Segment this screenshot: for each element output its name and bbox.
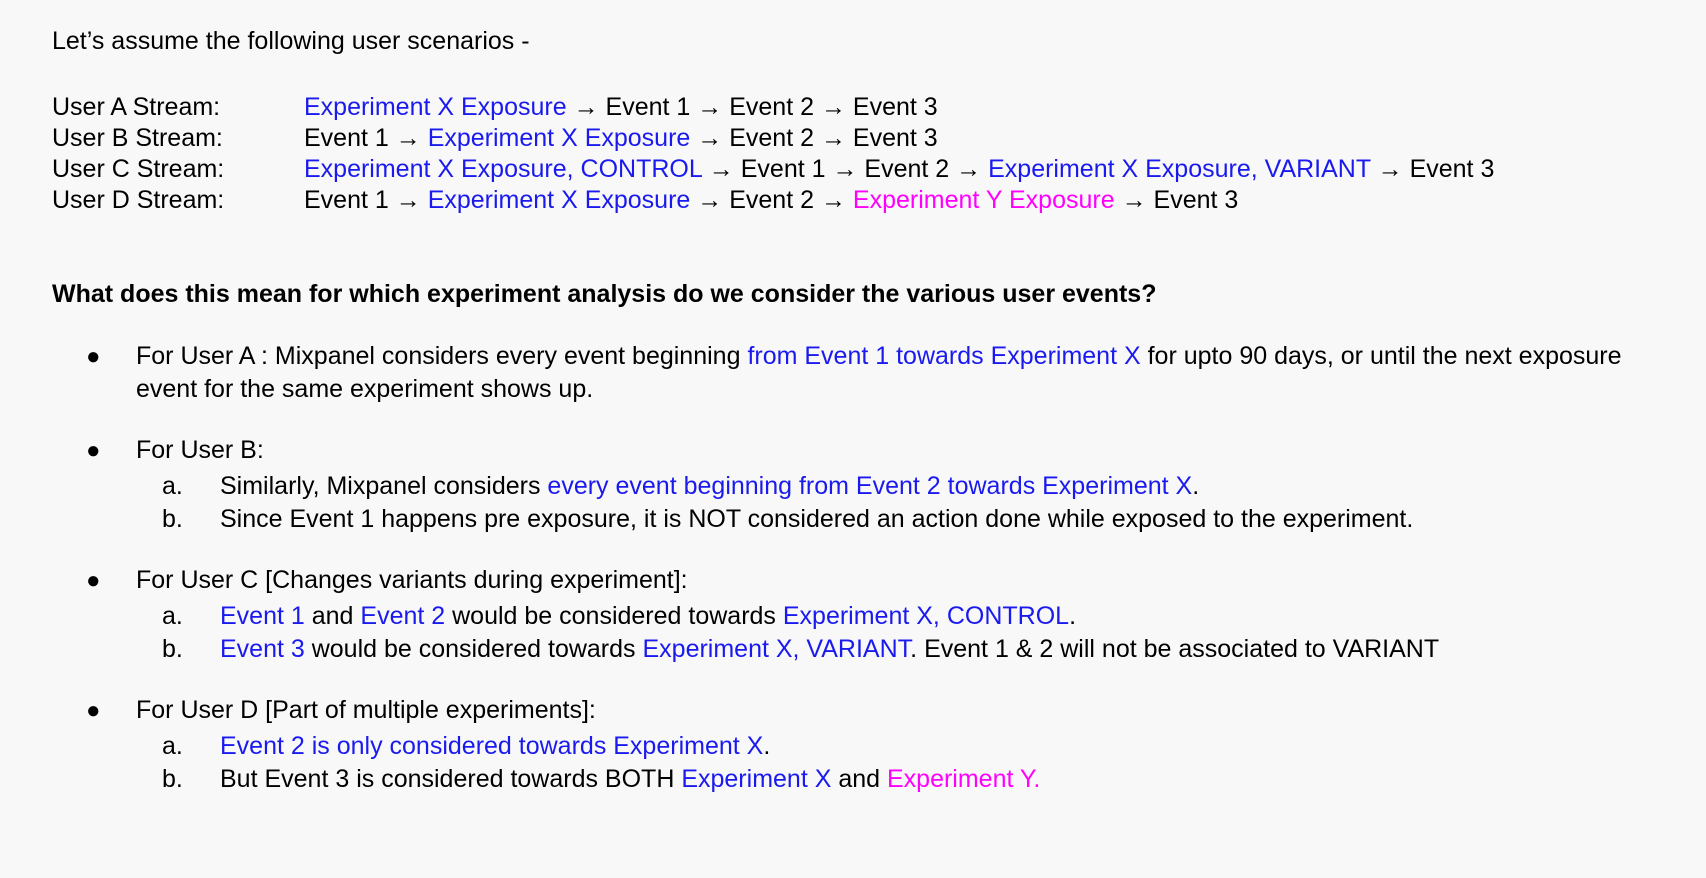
text-segment: → <box>690 124 729 152</box>
bullet-dot-icon: ● <box>86 340 100 373</box>
bullet-text: For User B: <box>136 434 1670 467</box>
scenario-stream: Event 1 → Experiment X Exposure → Event … <box>304 185 1494 216</box>
sub-list-item: a.Event 2 is only considered towards Exp… <box>136 730 1670 763</box>
user-scenarios-table: User A Stream:Experiment X Exposure → Ev… <box>52 92 1494 216</box>
sub-list-text: Event 1 and Event 2 would be considered … <box>220 602 1076 630</box>
text-segment: Event 1 <box>304 186 389 214</box>
text-segment: Event 3 <box>853 124 938 152</box>
sub-list: a.Event 1 and Event 2 would be considere… <box>136 600 1670 666</box>
text-segment: → <box>567 93 606 121</box>
scenario-row: User A Stream:Experiment X Exposure → Ev… <box>52 92 1494 123</box>
text-segment: . <box>1069 602 1076 630</box>
text-segment: Event 1 <box>606 93 691 121</box>
sub-list-item: b.But Event 3 is considered towards BOTH… <box>136 763 1670 796</box>
sub-list-item: b.Event 3 would be considered towards Ex… <box>136 633 1670 666</box>
text-segment: would be considered towards <box>445 602 783 630</box>
user-scenarios-body: User A Stream:Experiment X Exposure → Ev… <box>52 92 1494 216</box>
text-segment: Event 1 <box>304 124 389 152</box>
text-segment: For User B: <box>136 436 264 464</box>
text-segment: Experiment X Exposure <box>304 93 567 121</box>
analysis-bullet-list: ●For User A : Mixpanel considers every e… <box>52 340 1670 796</box>
text-segment: Event 3 <box>853 93 938 121</box>
text-segment: → <box>949 155 988 183</box>
sub-list-text: Event 3 would be considered towards Expe… <box>220 635 1439 663</box>
text-segment: Event 2 is only considered towards Exper… <box>220 732 763 760</box>
bullet-list-item: ●For User B:a.Similarly, Mixpanel consid… <box>52 434 1670 536</box>
text-segment: Event 1 <box>220 602 305 630</box>
bullet-list-item: ●For User C [Changes variants during exp… <box>52 564 1670 666</box>
text-segment: For User A : Mixpanel considers every ev… <box>136 342 747 370</box>
sub-list-marker: b. <box>162 633 202 666</box>
text-segment: . Event 1 & 2 will not be associated to … <box>910 635 1439 663</box>
scenario-label: User D Stream: <box>52 185 304 216</box>
sub-list-item: b.Since Event 1 happens pre exposure, it… <box>136 503 1670 536</box>
bullet-text: For User A : Mixpanel considers every ev… <box>136 340 1670 406</box>
text-segment: → <box>814 186 853 214</box>
scenario-stream: Experiment X Exposure, CONTROL → Event 1… <box>304 154 1494 185</box>
bullet-dot-icon: ● <box>86 564 100 597</box>
text-segment: Event 2 <box>729 186 814 214</box>
text-segment: But Event 3 is considered towards BOTH <box>220 765 681 793</box>
sub-list-item: a.Event 1 and Event 2 would be considere… <box>136 600 1670 633</box>
sub-list: a.Event 2 is only considered towards Exp… <box>136 730 1670 796</box>
text-segment: → <box>814 93 853 121</box>
sub-list-text: Since Event 1 happens pre exposure, it i… <box>220 505 1413 533</box>
text-segment: Experiment X Exposure, VARIANT <box>988 155 1371 183</box>
document-page: Let’s assume the following user scenario… <box>0 0 1706 878</box>
text-segment: Event 2 <box>729 93 814 121</box>
bullet-text: For User D [Part of multiple experiments… <box>136 694 1670 727</box>
scenario-row: User C Stream:Experiment X Exposure, CON… <box>52 154 1494 185</box>
bullet-dot-icon: ● <box>86 694 100 727</box>
text-segment: Since Event 1 happens pre exposure, it i… <box>220 505 1413 533</box>
scenario-label: User B Stream: <box>52 123 304 154</box>
sub-list-text: Similarly, Mixpanel considers every even… <box>220 472 1199 500</box>
text-segment: → <box>690 93 729 121</box>
sub-list-item: a.Similarly, Mixpanel considers every ev… <box>136 470 1670 503</box>
text-segment: → <box>702 155 741 183</box>
question-heading: What does this mean for which experiment… <box>52 278 1670 310</box>
text-segment: Experiment X Exposure, CONTROL <box>304 155 702 183</box>
text-segment: Event 2 <box>864 155 949 183</box>
text-segment: Event 2 <box>729 124 814 152</box>
sub-list-marker: b. <box>162 763 202 796</box>
bullet-list-item: ●For User A : Mixpanel considers every e… <box>52 340 1670 406</box>
sub-list-text: But Event 3 is considered towards BOTH E… <box>220 765 1040 793</box>
text-segment: For User D [Part of multiple experiments… <box>136 696 596 724</box>
text-segment: and <box>305 602 361 630</box>
text-segment: Experiment Y Exposure <box>853 186 1115 214</box>
scenario-stream: Event 1 → Experiment X Exposure → Event … <box>304 123 1494 154</box>
text-segment: → <box>1371 155 1410 183</box>
text-segment: Similarly, Mixpanel considers <box>220 472 547 500</box>
text-segment: from Event 1 towards Experiment X <box>747 342 1140 370</box>
bullet-list-item: ●For User D [Part of multiple experiment… <box>52 694 1670 796</box>
text-segment: Experiment X Exposure <box>428 124 691 152</box>
text-segment: Experiment X Exposure <box>428 186 691 214</box>
text-segment: Experiment X, VARIANT <box>642 635 910 663</box>
sub-list-marker: b. <box>162 503 202 536</box>
text-segment: Event 2 <box>360 602 445 630</box>
text-segment: → <box>389 186 428 214</box>
sub-list-marker: a. <box>162 600 202 633</box>
text-segment: and <box>831 765 887 793</box>
text-segment: For User C [Changes variants during expe… <box>136 566 688 594</box>
scenario-row: User D Stream:Event 1 → Experiment X Exp… <box>52 185 1494 216</box>
sub-list: a.Similarly, Mixpanel considers every ev… <box>136 470 1670 536</box>
bullet-dot-icon: ● <box>86 434 100 467</box>
scenario-label: User C Stream: <box>52 154 304 185</box>
text-segment: → <box>389 124 428 152</box>
text-segment: . <box>763 732 770 760</box>
text-segment: Experiment X <box>681 765 831 793</box>
text-segment: Event 1 <box>741 155 826 183</box>
text-segment: → <box>826 155 865 183</box>
text-segment: Experiment X, CONTROL <box>783 602 1069 630</box>
scenario-label: User A Stream: <box>52 92 304 123</box>
scenario-row: User B Stream:Event 1 → Experiment X Exp… <box>52 123 1494 154</box>
text-segment: → <box>814 124 853 152</box>
text-segment: . <box>1192 472 1199 500</box>
text-segment: would be considered towards <box>305 635 643 663</box>
scenario-stream: Experiment X Exposure → Event 1 → Event … <box>304 92 1494 123</box>
sub-list-text: Event 2 is only considered towards Exper… <box>220 732 770 760</box>
bullet-text: For User C [Changes variants during expe… <box>136 564 1670 597</box>
text-segment: every event beginning from Event 2 towar… <box>547 472 1192 500</box>
text-segment: Event 3 <box>1410 155 1495 183</box>
text-segment: Event 3 <box>220 635 305 663</box>
sub-list-marker: a. <box>162 730 202 763</box>
text-segment: Experiment Y. <box>887 765 1040 793</box>
text-segment: → <box>1115 186 1154 214</box>
text-segment: Event 3 <box>1154 186 1239 214</box>
sub-list-marker: a. <box>162 470 202 503</box>
intro-paragraph: Let’s assume the following user scenario… <box>52 24 1670 58</box>
text-segment: → <box>690 186 729 214</box>
